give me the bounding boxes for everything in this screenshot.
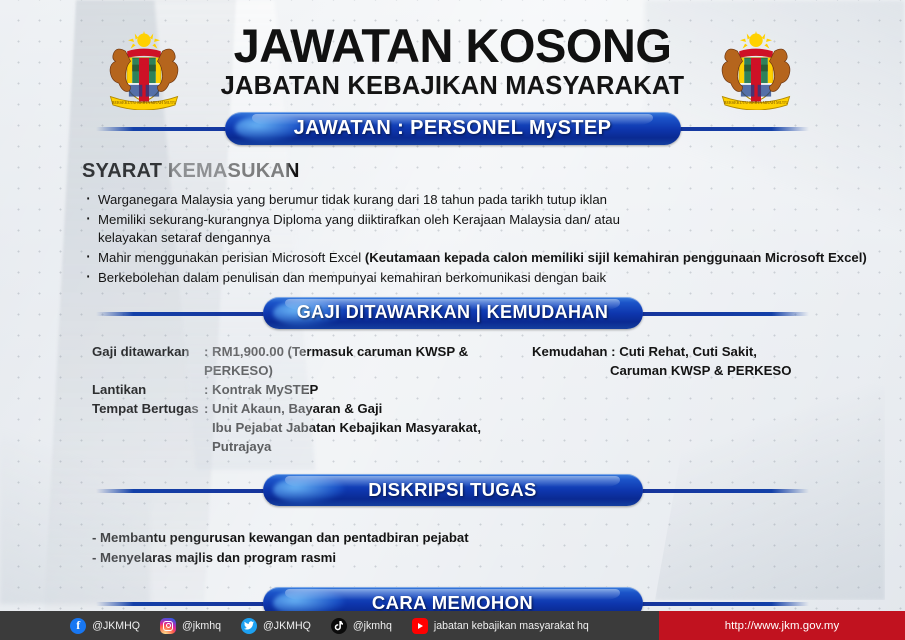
duties-banner-label: DISKRIPSI TUGAS [368,479,536,501]
table-row: Lantikan : Kontrak MySTEP [92,380,532,399]
banner-line-left [96,602,266,606]
svg-text:BERSEKUTU BERTAMBAH MUTU: BERSEKUTU BERTAMBAH MUTU [724,100,789,105]
banner-line-right [639,312,809,316]
salary-banner-pill: GAJI DITAWARKAN | KEMUDAHAN [263,297,643,329]
social-handle: @jkmhq [182,620,221,632]
requirements-list: Warganegara Malaysia yang berumur tidak … [82,191,905,287]
salary-left-column: Gaji ditawarkan : RM1,900.00 (Termasuk c… [92,342,532,456]
list-item: Mahir menggunakan perisian Microsoft Exc… [82,249,905,267]
job-vacancy-poster: BERSEKUTU BERTAMBAH MUTU JAWATAN KOSONG … [0,0,905,640]
requirements-heading: SYARAT KEMASUKAN [82,160,905,183]
social-handle: @jkmhq [353,620,392,632]
position-banner-label: JAWATAN : PERSONEL MySTEP [294,117,612,140]
benefits-label-continued: Caruman KWSP & PERKESO [532,361,792,380]
position-banner-pill: JAWATAN : PERSONEL MySTEP [225,112,681,145]
banner-line-right [639,489,809,493]
list-item: Memiliki sekurang-kurangnya Diploma yang… [82,211,905,246]
instagram-icon [160,618,176,634]
benefits-label: Kemudahan : Cuti Rehat, Cuti Sakit, [532,342,792,361]
list-item: - Membantu pengurusan kewangan dan penta… [92,528,905,548]
footer-website-strip[interactable]: http://www.jkm.gov.my [659,611,905,640]
benefits-column: Kemudahan : Cuti Rehat, Cuti Sakit, Caru… [532,342,792,456]
requirement-text: Mahir menggunakan perisian Microsoft Exc… [98,250,365,265]
twitter-icon [241,618,257,634]
salary-label: Tempat Bertugas [92,399,204,418]
list-item: Berkebolehan dalam penulisan dan mempuny… [82,269,905,287]
facebook-icon: f [70,618,86,634]
salary-value: : Unit Akaun, Bayaran & Gaji [204,399,532,418]
social-tiktok[interactable]: @jkmhq [331,618,392,634]
social-handle: @JKMHQ [263,620,311,632]
list-item: - Menyelaras majlis dan program rasmi [92,548,905,568]
footer-social-strip: f @JKMHQ @jkmhq @JKMHQ [0,611,659,640]
banner-line-left [96,489,266,493]
table-row: Gaji ditawarkan : RM1,900.00 (Termasuk c… [92,342,532,380]
footer-bar: f @JKMHQ @jkmhq @JKMHQ [0,611,905,640]
social-handle: jabatan kebajikan masyarakat hq [434,620,589,632]
salary-value-continued: Ibu Pejabat Jabatan Kebajikan Masyarakat… [92,418,532,456]
social-facebook[interactable]: f @JKMHQ [70,618,140,634]
salary-banner-label: GAJI DITAWARKAN | KEMUDAHAN [297,302,609,323]
youtube-icon [412,618,428,634]
social-instagram[interactable]: @jkmhq [160,618,221,634]
social-twitter[interactable]: @JKMHQ [241,618,311,634]
table-row: Tempat Bertugas : Unit Akaun, Bayaran & … [92,399,532,418]
twitter-bird-glyph [244,621,254,630]
salary-label: Lantikan [92,380,204,399]
social-youtube[interactable]: jabatan kebajikan masyarakat hq [412,618,589,634]
duties-banner: DISKRIPSI TUGAS [0,474,905,508]
svg-text:BERSEKUTU BERTAMBAH MUTU: BERSEKUTU BERTAMBAH MUTU [112,100,177,105]
duties-list: - Membantu pengurusan kewangan dan penta… [0,528,905,568]
social-handle: @JKMHQ [92,620,140,632]
tiktok-note-glyph [334,621,343,631]
salary-label: Gaji ditawarkan [92,342,204,380]
website-url: http://www.jkm.gov.my [725,620,840,632]
requirement-text: Memiliki sekurang-kurangnya Diploma yang… [98,212,620,227]
requirement-text-emphasis: (Keutamaan kepada calon memiliki sijil k… [365,250,867,265]
banner-line-left [96,312,266,316]
position-banner: JAWATAN : PERSONEL MySTEP [0,112,905,146]
poster-header: BERSEKUTU BERTAMBAH MUTU JAWATAN KOSONG … [0,0,905,112]
requirement-text-continued: kelayakan setaraf dengannya [98,229,905,247]
salary-banner: GAJI DITAWARKAN | KEMUDAHAN [0,297,905,331]
duties-banner-pill: DISKRIPSI TUGAS [263,474,643,506]
requirement-text: Berkebolehan dalam penulisan dan mempuny… [98,270,606,285]
banner-line-right [639,602,809,606]
salary-details: Gaji ditawarkan : RM1,900.00 (Termasuk c… [0,342,905,456]
salary-value: : Kontrak MySTEP [204,380,532,399]
list-item: Warganegara Malaysia yang berumur tidak … [82,191,905,209]
malaysia-coat-of-arms-right-icon: BERSEKUTU BERTAMBAH MUTU [714,26,798,110]
requirement-text: Warganegara Malaysia yang berumur tidak … [98,192,607,207]
requirements-section: SYARAT KEMASUKAN Warganegara Malaysia ya… [0,146,905,287]
tiktok-icon [331,618,347,634]
salary-value: : RM1,900.00 (Termasuk caruman KWSP & PE… [204,342,532,380]
